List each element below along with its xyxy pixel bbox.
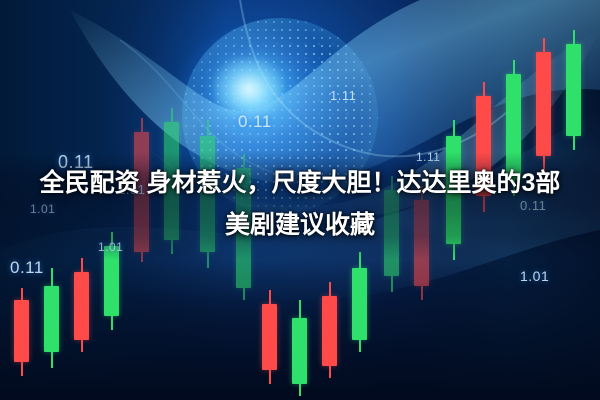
candlestick-body <box>14 300 29 362</box>
price-label: 1.11 <box>330 88 356 103</box>
candlestick-body <box>536 52 551 156</box>
promo-banner: 0.111.110.111.011.010.111.010.111.011.11… <box>0 0 600 400</box>
candlestick-body <box>566 44 581 136</box>
headline-line-1: 全民配资 身材惹火，尺度大胆！达达里奥的3部 <box>16 162 584 204</box>
price-label: 0.11 <box>238 112 272 132</box>
candlestick-body <box>44 286 59 352</box>
candlestick-body <box>292 318 307 384</box>
candlestick-body <box>262 304 277 370</box>
price-label: 1.01 <box>520 268 549 284</box>
candlestick-body <box>352 268 367 340</box>
headline-text: 全民配资 身材惹火，尺度大胆！达达里奥的3部 美剧建议收藏 <box>0 162 600 246</box>
headline-line-2: 美剧建议收藏 <box>16 204 584 246</box>
price-label: 0.11 <box>10 258 44 278</box>
candlestick-body <box>74 272 89 340</box>
candlestick-body <box>322 296 337 366</box>
